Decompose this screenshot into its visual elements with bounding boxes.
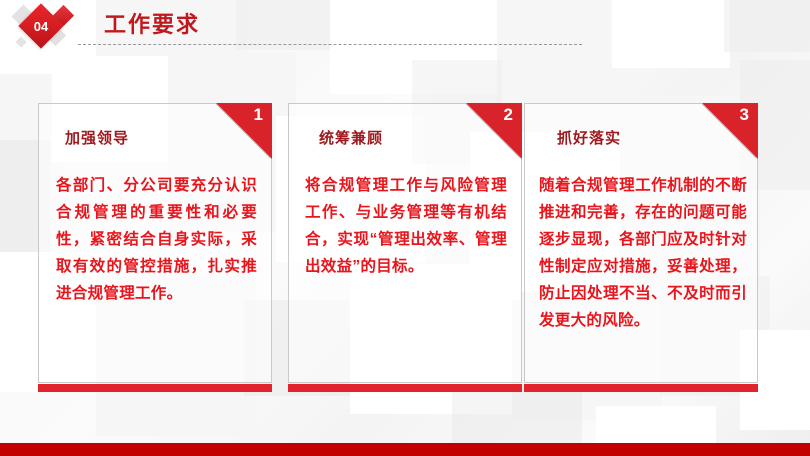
card-title: 加强领导 <box>65 129 129 149</box>
content-card-1[interactable]: 1 加强领导 各部门、分公司要充分认识合规管理的重要性和必要性，紧密结合自身实际… <box>38 103 272 383</box>
card-body: 将合规管理工作与风险管理工作、与业务管理等有机结合，实现“管理出效率、管理出效益… <box>305 172 507 280</box>
card-bottom-bar <box>38 384 272 392</box>
card-title: 抓好落实 <box>557 129 621 149</box>
card-number: 2 <box>504 105 513 125</box>
card-title: 统筹兼顾 <box>319 129 383 149</box>
card-corner-ribbon: 3 <box>702 103 758 159</box>
content-card-2[interactable]: 2 统筹兼顾 将合规管理工作与风险管理工作、与业务管理等有机结合，实现“管理出效… <box>288 103 522 383</box>
section-badge: 04 <box>12 2 90 58</box>
section-number: 04 <box>25 10 57 42</box>
content-card-3[interactable]: 3 抓好落实 随着合规管理工作机制的不断推进和完善，存在的问题可能逐步显现，各部… <box>524 103 758 383</box>
card-bottom-bar <box>524 384 758 392</box>
card-number: 1 <box>254 105 263 125</box>
bg-block <box>452 384 582 444</box>
header-divider <box>78 44 582 45</box>
footer-bar <box>0 443 810 456</box>
page-title: 工作要求 <box>104 11 200 39</box>
card-corner-ribbon: 1 <box>216 103 272 159</box>
card-bottom-bar <box>288 384 522 392</box>
card-number: 3 <box>740 105 749 125</box>
card-corner-ribbon: 2 <box>466 103 522 159</box>
card-body: 各部门、分公司要充分认识合规管理的重要性和必要性，紧密结合自身实际，采取有效的管… <box>56 172 257 307</box>
slide-canvas: 04 工作要求 1 加强领导 各部门、分公司要充分认识合规管理的重要性和必要性，… <box>0 0 810 456</box>
bg-block <box>596 406 716 446</box>
slide-header: 04 工作要求 <box>0 0 810 62</box>
card-body: 随着合规管理工作机制的不断推进和完善，存在的问题可能逐步显现，各部门应及时针对性… <box>539 172 747 334</box>
